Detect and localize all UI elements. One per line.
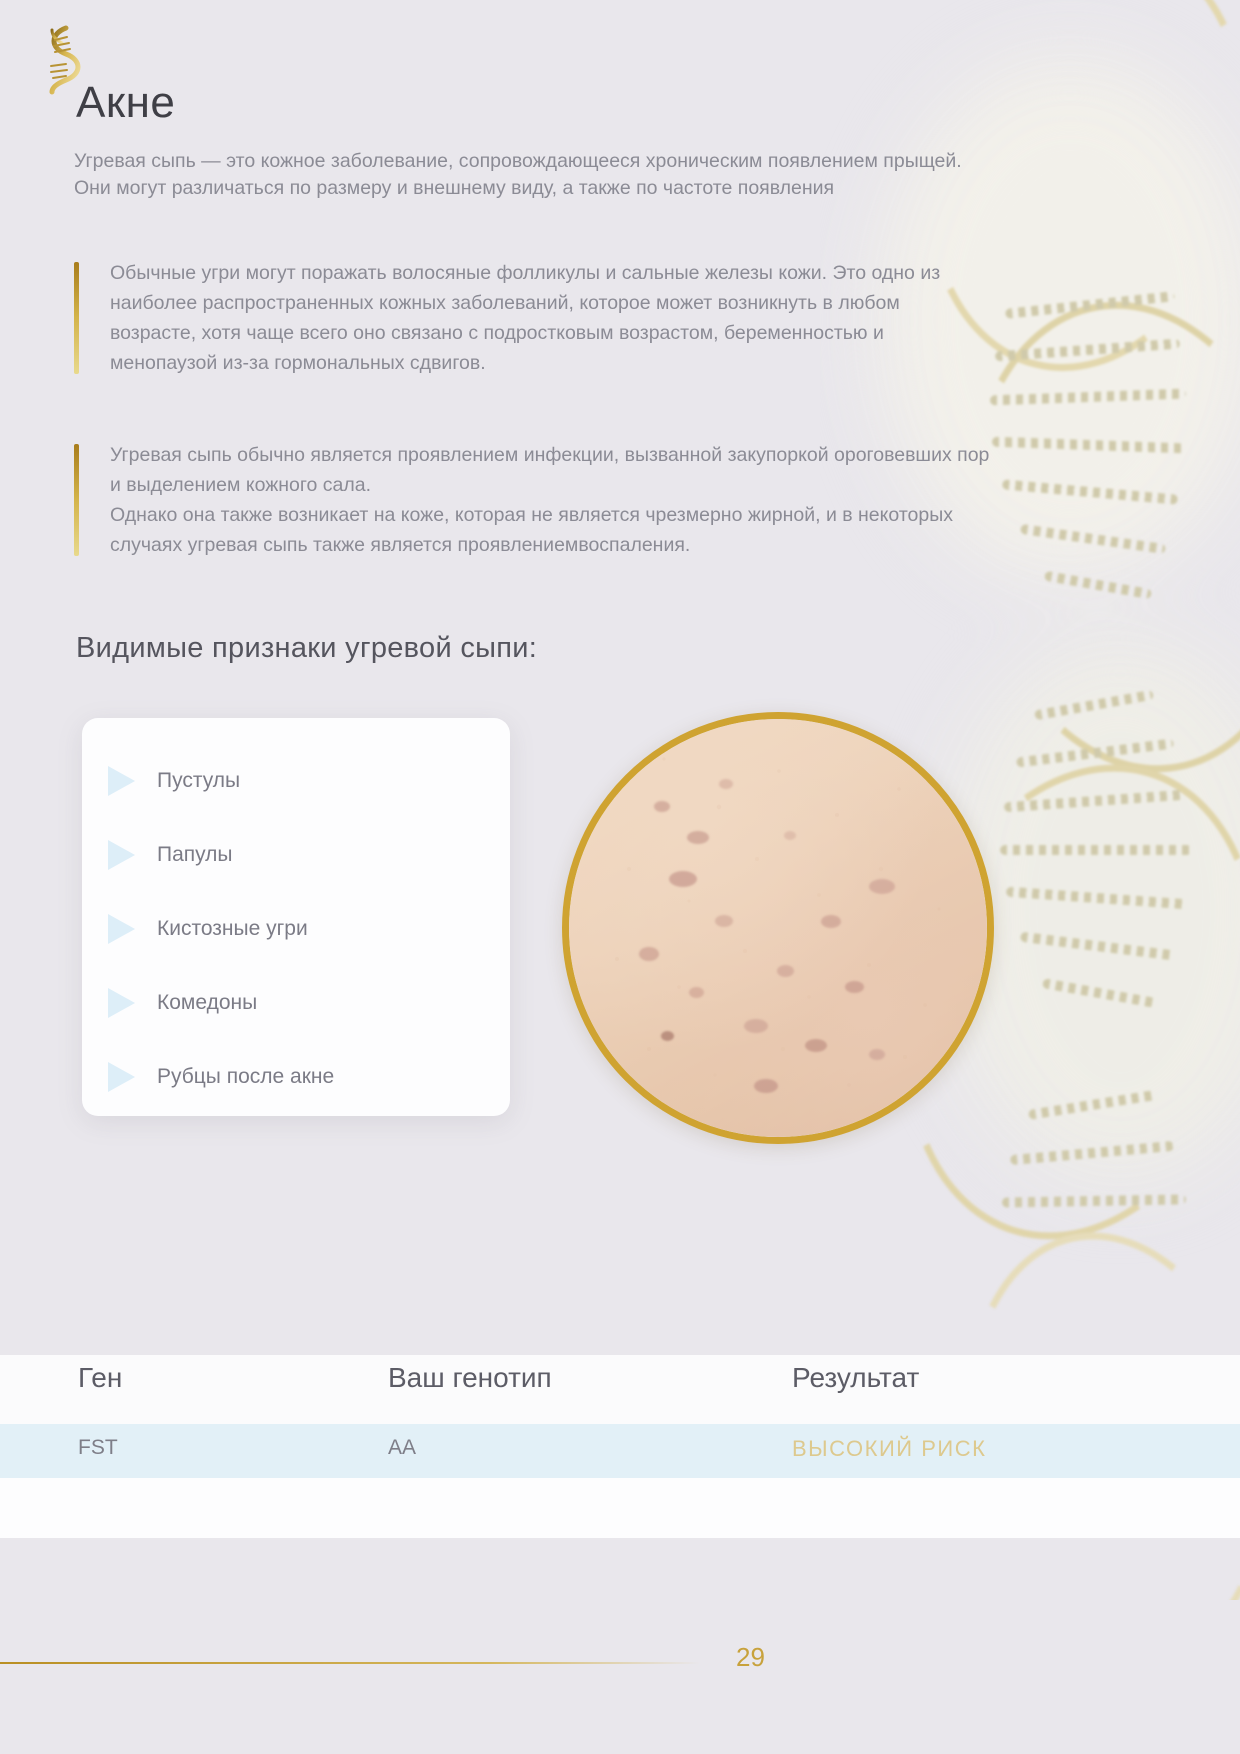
list-item: Рубцы после акне bbox=[82, 1040, 510, 1114]
list-item-label: Папулы bbox=[157, 843, 233, 867]
table-footer-band bbox=[0, 1478, 1240, 1538]
skin-photo bbox=[562, 712, 994, 1144]
list-item: Кистозные угри bbox=[82, 892, 510, 966]
acne-spot bbox=[669, 871, 697, 887]
skin-grain bbox=[569, 719, 987, 1137]
acne-spot bbox=[639, 947, 659, 961]
footer-divider bbox=[0, 1662, 700, 1664]
acne-spot bbox=[719, 779, 733, 789]
symptoms-list: Пустулы Папулы Кистозные угри Комедоны Р… bbox=[82, 718, 510, 1114]
list-item: Папулы bbox=[82, 818, 510, 892]
acne-spot bbox=[821, 915, 841, 928]
triangle-bullet-icon bbox=[108, 1062, 135, 1092]
quote-block-2: Угревая сыпь обычно является проявлением… bbox=[74, 440, 990, 560]
acne-spot bbox=[869, 1049, 885, 1060]
list-item: Комедоны bbox=[82, 966, 510, 1040]
quote-text-2: Угревая сыпь обычно является проявлением… bbox=[110, 440, 990, 560]
triangle-bullet-icon bbox=[108, 914, 135, 944]
column-header-gene: Ген bbox=[78, 1362, 122, 1394]
list-item-label: Кистозные угри bbox=[157, 917, 308, 941]
table-header-row bbox=[0, 1358, 1240, 1422]
page-number: 29 bbox=[736, 1642, 765, 1673]
symptoms-card: Пустулы Папулы Кистозные угри Комедоны Р… bbox=[82, 718, 510, 1116]
list-item-label: Комедоны bbox=[157, 991, 257, 1015]
acne-spot bbox=[654, 801, 670, 812]
list-item-label: Рубцы после акне bbox=[157, 1065, 334, 1089]
gold-accent-bar bbox=[74, 444, 79, 556]
acne-spot bbox=[744, 1019, 768, 1033]
triangle-bullet-icon bbox=[108, 766, 135, 796]
acne-spot bbox=[777, 965, 794, 977]
cell-gene: FST bbox=[78, 1436, 118, 1460]
triangle-bullet-icon bbox=[108, 988, 135, 1018]
status-badge: ВЫСОКИЙ РИСК bbox=[792, 1436, 986, 1462]
triangle-bullet-icon bbox=[108, 840, 135, 870]
list-item: Пустулы bbox=[82, 744, 510, 818]
column-header-genotype: Ваш генотип bbox=[388, 1362, 552, 1394]
acne-spot bbox=[661, 1031, 674, 1041]
quote-text-1: Обычные угри могут поражать волосяные фо… bbox=[110, 258, 990, 378]
gold-accent-bar bbox=[74, 262, 79, 374]
acne-spot bbox=[805, 1039, 827, 1052]
acne-spot bbox=[869, 879, 895, 894]
list-item-label: Пустулы bbox=[157, 769, 240, 793]
cell-genotype: AA bbox=[388, 1436, 416, 1460]
page-title: Акне bbox=[76, 78, 175, 128]
report-page: Акне Угревая сыпь — это кожное заболеван… bbox=[0, 0, 1240, 1754]
acne-spot bbox=[845, 981, 864, 993]
symptoms-heading: Видимые признаки угревой сыпи: bbox=[76, 632, 537, 665]
acne-spot bbox=[687, 831, 709, 844]
quote-block-1: Обычные угри могут поражать волосяные фо… bbox=[74, 258, 990, 378]
acne-spot bbox=[689, 987, 704, 998]
acne-spot bbox=[784, 831, 796, 840]
acne-spot bbox=[715, 915, 733, 927]
table-row bbox=[0, 1424, 1240, 1478]
acne-spot bbox=[754, 1079, 778, 1093]
intro-paragraph: Угревая сыпь — это кожное заболевание, с… bbox=[74, 148, 964, 202]
column-header-result: Результат bbox=[792, 1362, 919, 1394]
